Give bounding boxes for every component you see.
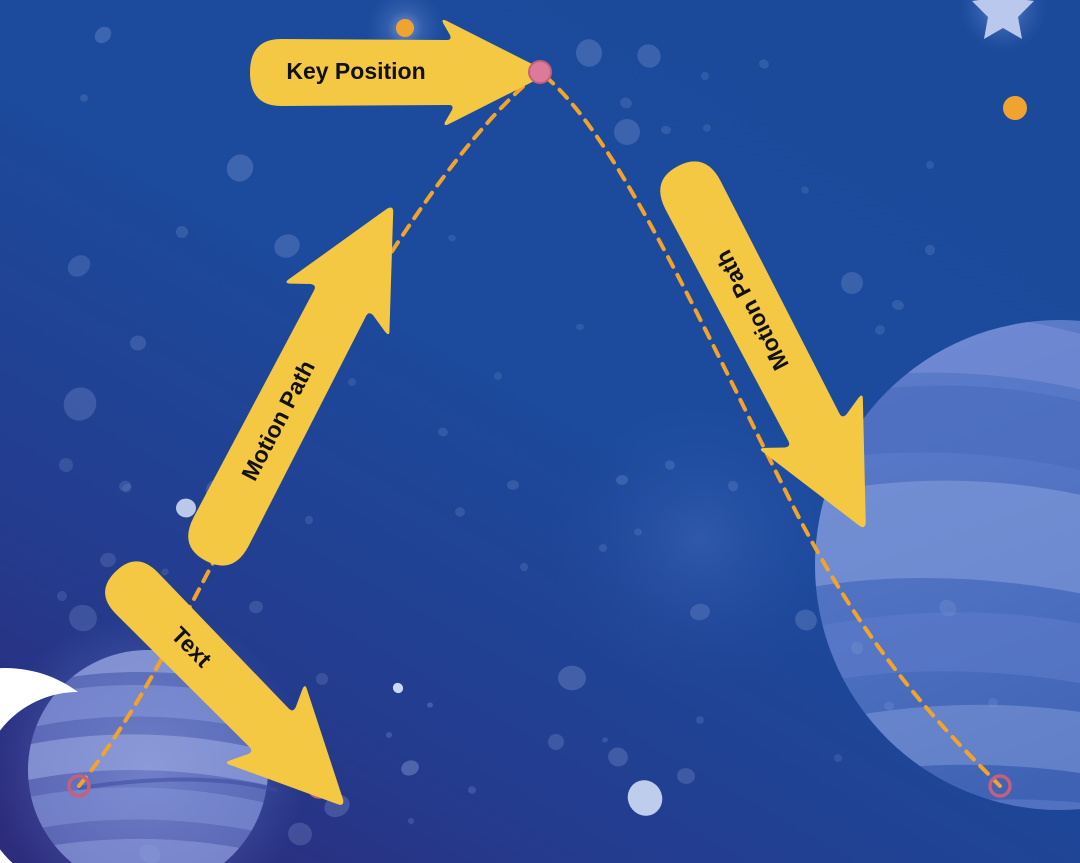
motion-path-annotation-canvas: Key Position Motion Path Motion Path Tex… bbox=[0, 0, 1080, 863]
key-marker-layer bbox=[0, 0, 1080, 863]
key-position-marker[interactable] bbox=[529, 61, 551, 83]
